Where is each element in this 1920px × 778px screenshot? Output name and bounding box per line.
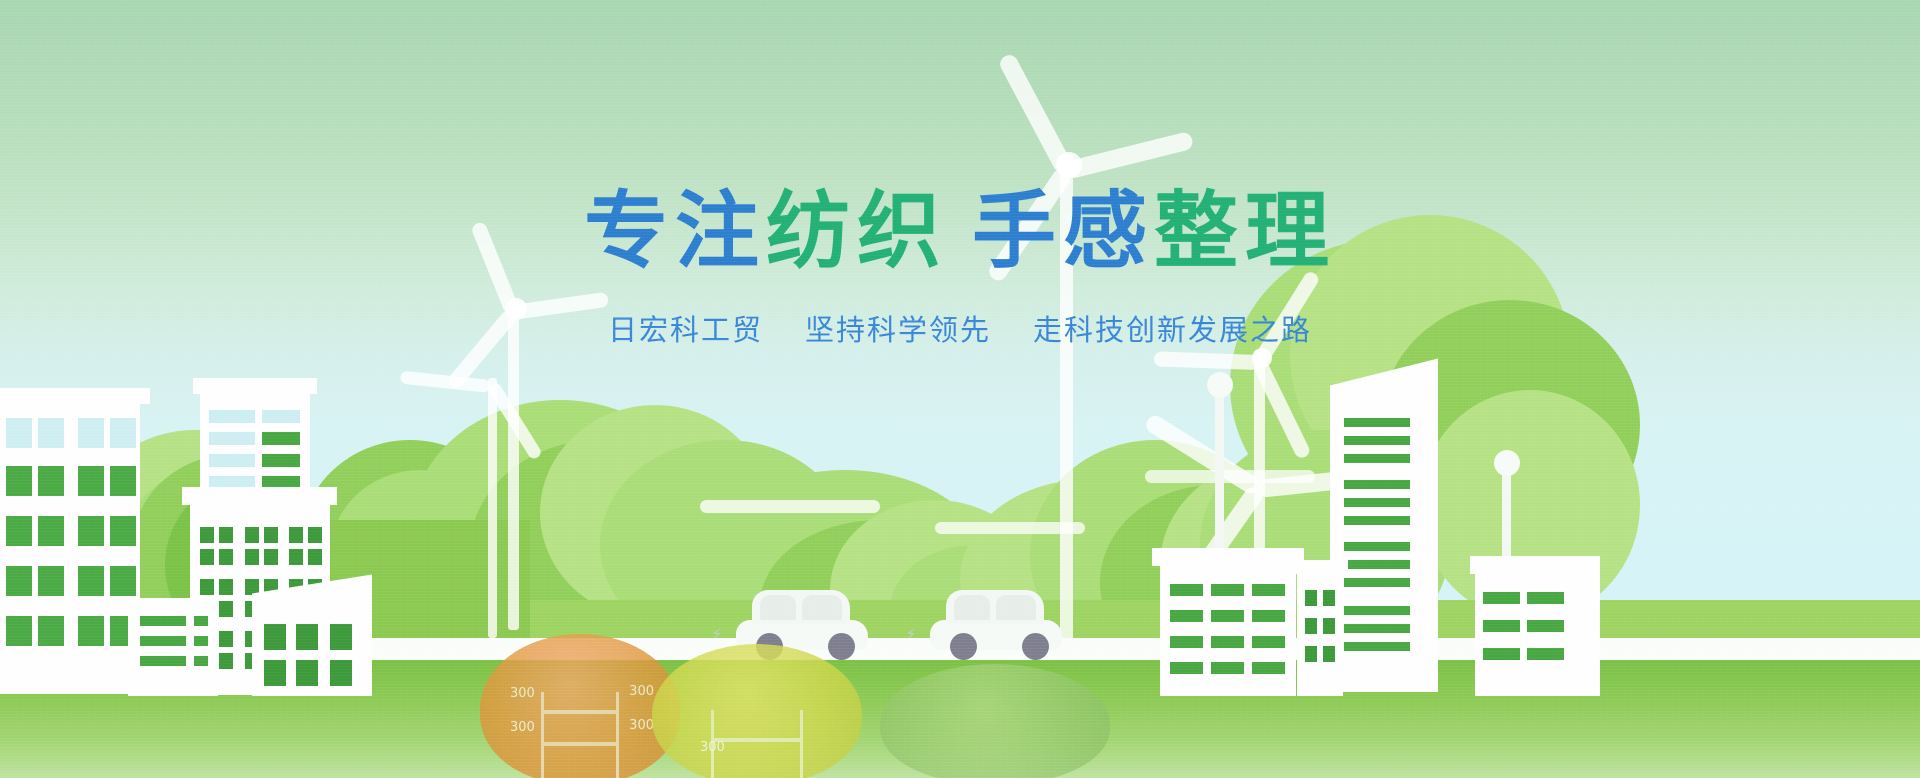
window (308, 549, 322, 565)
window (245, 527, 259, 543)
building-cap (1292, 560, 1348, 574)
window-bar (1483, 592, 1520, 604)
window (1323, 646, 1335, 662)
turbine-pole (488, 378, 497, 638)
window (1305, 618, 1317, 634)
window-bar (140, 616, 186, 626)
window-bar (209, 410, 255, 423)
building-far-right (1475, 574, 1600, 696)
window (289, 549, 303, 565)
window (110, 418, 136, 448)
window-bar (209, 432, 255, 445)
window (1305, 590, 1317, 606)
building-right-antenna (1160, 566, 1296, 696)
window (78, 616, 104, 646)
car-window (760, 595, 796, 620)
banner-text-block: 专注纺织手感整理 日宏科工贸坚持科学领先走科技创新发展之路 (0, 186, 1920, 349)
window-bar (209, 454, 255, 467)
flask-mark-label: 300 (700, 740, 725, 755)
window (78, 516, 104, 546)
cloud-wisp (700, 500, 880, 513)
building-left-tower (0, 404, 140, 694)
window (1305, 646, 1317, 662)
hero-banner: ⚡ ⚡ 300 300 300 300 300 专注纺织手感整理 日宏科工贸坚持… (0, 0, 1920, 778)
flask-tick (544, 742, 616, 746)
antenna-pole (1502, 470, 1511, 560)
window (200, 527, 214, 543)
window-bar (140, 656, 186, 666)
building-left-small (128, 598, 218, 696)
electric-bolt-icon: ⚡ (905, 627, 916, 642)
window-bar (1344, 642, 1410, 651)
car-wheel (828, 633, 855, 660)
window (219, 601, 233, 617)
window-bar (1344, 606, 1410, 615)
window (6, 466, 32, 496)
subtitle-part-2: 坚持科学领先 (805, 315, 991, 347)
building-right-tall (1330, 392, 1438, 692)
window (219, 631, 233, 647)
antenna-ball (1207, 372, 1233, 398)
antenna-pole (1215, 392, 1224, 552)
window-bar (1344, 624, 1410, 633)
window-bar (194, 656, 208, 666)
page-title: 专注纺织手感整理 (0, 186, 1920, 277)
window-bar (1527, 592, 1564, 604)
window (38, 466, 64, 496)
window-bar (262, 410, 300, 423)
window (264, 549, 278, 565)
window-bar (140, 636, 186, 646)
window-bar (1170, 610, 1203, 622)
window (330, 624, 352, 650)
window-bar (1344, 578, 1410, 587)
window-bar (262, 432, 300, 445)
window-bar (1483, 648, 1520, 660)
window-bar (1252, 662, 1285, 674)
window-bar (1170, 636, 1203, 648)
window-bar (1211, 662, 1244, 674)
lab-flask-orange: 300 300 300 300 (480, 634, 680, 778)
window (264, 527, 278, 543)
window (200, 549, 214, 565)
flask-mark-label: 300 (629, 684, 654, 699)
building-cap (193, 378, 317, 394)
flask-tick (544, 710, 616, 714)
window (1323, 618, 1335, 634)
lab-flask-yellow: 300 (652, 644, 862, 778)
window-bar (1344, 418, 1410, 427)
subtitle-part-1: 日宏科工贸 (608, 315, 763, 347)
building-cap (182, 487, 337, 505)
window-bar (1344, 498, 1410, 507)
window (219, 579, 233, 595)
car-window (996, 595, 1036, 620)
window (78, 566, 104, 596)
headline-seg-2: 纺织 (766, 184, 948, 278)
headline-seg-4: 整理 (1154, 184, 1336, 278)
building-right-small (1297, 574, 1343, 696)
window-bar (1527, 620, 1564, 632)
car-window (802, 595, 842, 620)
page-subtitle: 日宏科工贸坚持科学领先走科技创新发展之路 (0, 307, 1920, 349)
turbine-blade (1154, 351, 1259, 370)
window (38, 516, 64, 546)
window (308, 527, 322, 543)
window-bar (194, 616, 208, 626)
lab-flask-green (880, 664, 1110, 778)
window (289, 527, 303, 543)
window (78, 466, 104, 496)
window-bar (1483, 620, 1520, 632)
subtitle-part-3: 走科技创新发展之路 (1033, 315, 1312, 347)
window (110, 516, 136, 546)
window-bar (1211, 636, 1244, 648)
window (264, 624, 286, 650)
window (6, 616, 32, 646)
building-cap (1470, 556, 1600, 574)
window-bar (1252, 610, 1285, 622)
window (110, 466, 136, 496)
window-bar (1527, 648, 1564, 660)
flask-graduation (541, 692, 619, 778)
window-bar (194, 636, 208, 646)
car-wheel (1022, 633, 1049, 660)
car-wheel (950, 633, 977, 660)
turbine-blade (1064, 131, 1194, 180)
headline-seg-1: 专注 (584, 184, 766, 278)
window (296, 624, 318, 650)
window-bar (262, 454, 300, 467)
headline-seg-3: 手感 (972, 184, 1154, 278)
window-bar (1344, 480, 1410, 489)
turbine-hub (1056, 152, 1082, 178)
window-bar (1211, 610, 1244, 622)
building-cap (0, 388, 150, 404)
window-bar (1344, 436, 1410, 445)
window-bar (1344, 454, 1410, 463)
window (38, 616, 64, 646)
window (6, 516, 32, 546)
window-bar (1344, 542, 1410, 551)
building-cap (1152, 548, 1304, 566)
window (200, 579, 214, 595)
window (245, 549, 259, 565)
turbine-blade (400, 371, 491, 393)
window (78, 418, 104, 448)
window-bar (1344, 516, 1410, 525)
window-bar (1170, 662, 1203, 674)
turbine-pole (508, 300, 519, 630)
turbine-hub (1252, 348, 1272, 368)
window (1323, 590, 1335, 606)
window (6, 566, 32, 596)
window (219, 527, 233, 543)
window (38, 566, 64, 596)
window (219, 549, 233, 565)
window (330, 660, 352, 686)
window-bar (1211, 584, 1244, 596)
car-window (954, 595, 990, 620)
window (38, 418, 64, 448)
flask-mark-label: 300 (629, 718, 654, 733)
window (6, 418, 32, 448)
window (264, 660, 286, 686)
electric-bolt-icon: ⚡ (711, 627, 722, 642)
window-bar (1170, 584, 1203, 596)
antenna-ball (1494, 450, 1520, 476)
flask-mark-label: 300 (510, 686, 535, 701)
window-bar (1344, 560, 1410, 569)
window (219, 653, 233, 669)
window-bar (1252, 636, 1285, 648)
window (296, 660, 318, 686)
flask-mark-label: 300 (510, 720, 535, 735)
flask-tick (714, 738, 800, 742)
window-bar (1252, 584, 1285, 596)
window (110, 566, 136, 596)
